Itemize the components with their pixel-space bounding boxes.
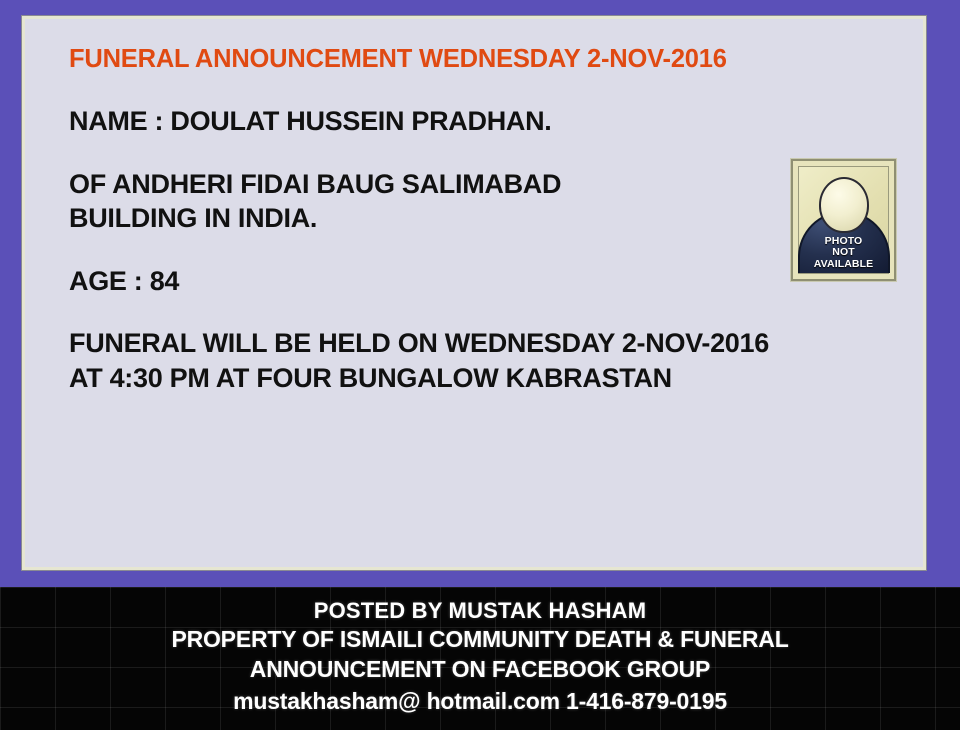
address-line-2: BUILDING IN INDIA. xyxy=(69,201,809,236)
photo-caption-line-3: AVAILABLE xyxy=(799,259,888,270)
person-head-icon xyxy=(819,177,869,233)
funeral-details-paragraph: FUNERAL WILL BE HELD ON WEDNESDAY 2-NOV-… xyxy=(69,326,809,395)
page-title: FUNERAL ANNOUNCEMENT WEDNESDAY 2-NOV-201… xyxy=(49,45,899,74)
funeral-announcement-poster: FUNERAL ANNOUNCEMENT WEDNESDAY 2-NOV-201… xyxy=(0,0,960,730)
address-paragraph: OF ANDHERI FIDAI BAUG SALIMABAD BUILDING… xyxy=(69,167,809,236)
photo-inner-frame: PHOTO NOT AVAILABLE xyxy=(798,166,889,274)
age-line: AGE : 84 xyxy=(69,264,809,299)
funeral-line-2: AT 4:30 PM AT FOUR BUNGALOW KABRASTAN xyxy=(69,361,809,396)
footer-posted-by: POSTED BY MUSTAK HASHAM xyxy=(0,596,960,625)
address-line-1: OF ANDHERI FIDAI BAUG SALIMABAD xyxy=(69,167,809,202)
photo-not-available-thumbnail: PHOTO NOT AVAILABLE xyxy=(791,159,896,281)
announcement-card: FUNERAL ANNOUNCEMENT WEDNESDAY 2-NOV-201… xyxy=(22,16,926,570)
funeral-line-1: FUNERAL WILL BE HELD ON WEDNESDAY 2-NOV-… xyxy=(69,326,809,361)
name-paragraph: NAME : DOULAT HUSSEIN PRADHAN. xyxy=(69,104,809,139)
footer-property: PROPERTY OF ISMAILI COMMUNITY DEATH & FU… xyxy=(0,625,960,655)
footer-contact: mustakhasham@ hotmail.com 1-416-879-0195 xyxy=(0,685,960,718)
poster-footer: POSTED BY MUSTAK HASHAM PROPERTY OF ISMA… xyxy=(0,587,960,730)
announcement-body: NAME : DOULAT HUSSEIN PRADHAN. OF ANDHER… xyxy=(49,104,809,395)
name-line: NAME : DOULAT HUSSEIN PRADHAN. xyxy=(69,104,809,139)
photo-caption: PHOTO NOT AVAILABLE xyxy=(799,236,888,270)
photo-caption-line-2: NOT xyxy=(799,247,888,258)
age-paragraph: AGE : 84 xyxy=(69,264,809,299)
footer-group: ANNOUNCEMENT ON FACEBOOK GROUP xyxy=(0,655,960,685)
